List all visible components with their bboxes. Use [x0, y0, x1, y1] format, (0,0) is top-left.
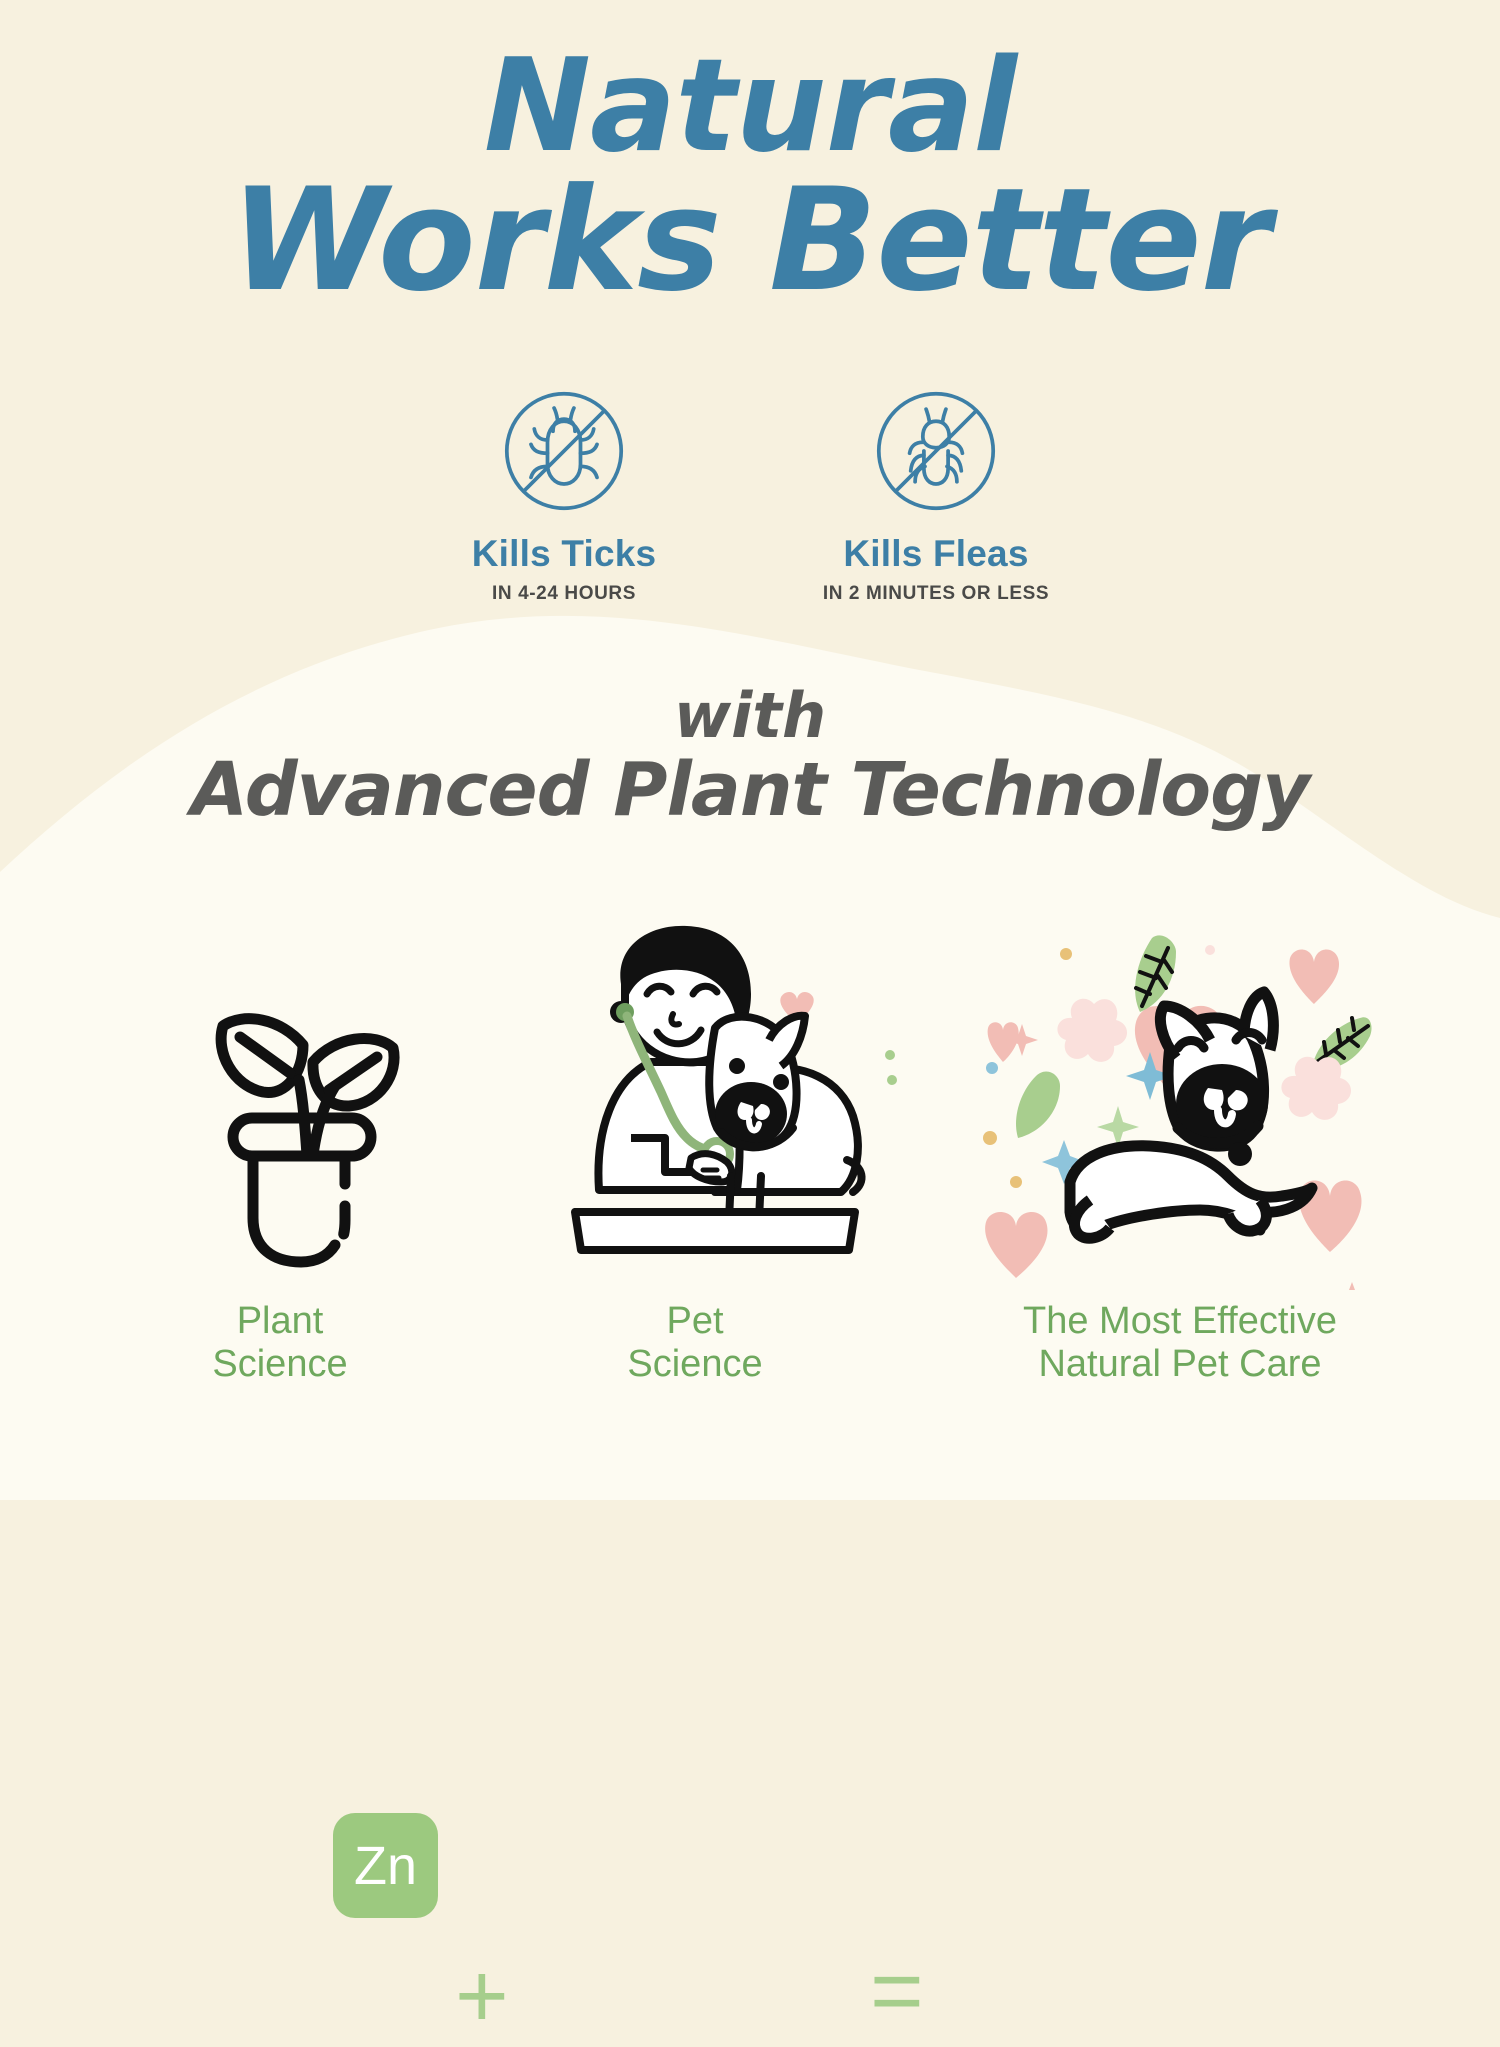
headline-line-1: Natural: [0, 42, 1500, 173]
equals-operator: =: [870, 1945, 924, 2037]
dog-body: [1070, 1146, 1312, 1230]
page-title: Natural Works Better: [0, 42, 1500, 313]
caption-result: The Most Effective Natural Pet Care: [960, 1300, 1400, 1386]
caption-line-1: Plant: [150, 1300, 410, 1343]
claim-subtitle: IN 4-24 HOURS: [492, 583, 636, 605]
vet-hugging-dog-icon: [565, 920, 905, 1265]
no-tick-icon: [498, 385, 630, 517]
subheadline: with Advanced Plant Technology: [0, 685, 1500, 827]
flower-confetti: [1057, 999, 1127, 1062]
zinc-symbol: Zn: [354, 1835, 417, 1897]
caption-line-1: Pet: [560, 1300, 830, 1343]
caption-pet-science: Pet Science: [560, 1300, 830, 1386]
claim-title: Kills Ticks: [472, 533, 657, 575]
caption-line-2: Natural Pet Care: [960, 1343, 1400, 1386]
headline-line-2: Works Better: [0, 169, 1500, 314]
happy-jumping-dog-icon: [960, 900, 1380, 1290]
claim-kills-fleas: Kills Fleas IN 2 MINUTES OR LESS: [811, 385, 1061, 605]
zinc-element-badge: Zn: [333, 1813, 438, 1918]
plant-test-tube-icon: [185, 940, 445, 1270]
claim-kills-ticks: Kills Ticks IN 4-24 HOURS: [439, 385, 689, 605]
caption-line-2: Science: [560, 1343, 830, 1386]
claim-subtitle: IN 2 MINUTES OR LESS: [823, 583, 1049, 605]
claim-title: Kills Fleas: [843, 533, 1028, 575]
caption-plant-science: Plant Science: [150, 1300, 410, 1386]
caption-line-2: Science: [150, 1343, 410, 1386]
captions-row: Plant Science Pet Science The Most Effec…: [0, 1300, 1500, 1420]
no-flea-icon: [870, 385, 1002, 517]
infographic-canvas: Natural Works Better: [0, 0, 1500, 1500]
claims-row: Kills Ticks IN 4-24 HOURS: [0, 385, 1500, 605]
plus-operator: +: [455, 1950, 509, 2042]
subheadline-line-2: Advanced Plant Technology: [0, 753, 1500, 827]
caption-line-1: The Most Effective: [960, 1300, 1400, 1343]
subheadline-line-1: with: [0, 685, 1500, 747]
formula-row: Zn +: [0, 895, 1500, 1295]
